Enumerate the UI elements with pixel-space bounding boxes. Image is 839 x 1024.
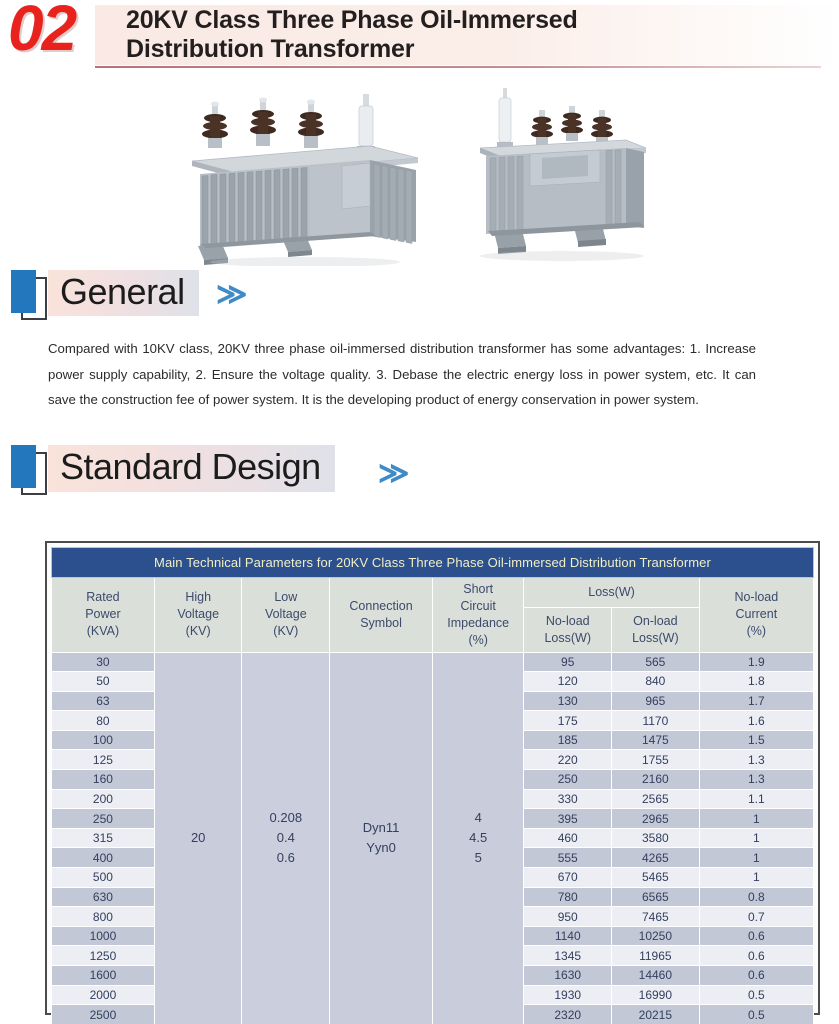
page-header: 02 20KV Class Three Phase Oil-Immersed D… [0, 0, 839, 84]
cell-rated-power: 100 [52, 730, 155, 750]
cell-rated-power: 2500 [52, 1005, 155, 1024]
section-marker-icon [8, 270, 44, 320]
cell-onload-loss: 1170 [612, 711, 700, 731]
cell-rated-power: 200 [52, 789, 155, 809]
standard-design-heading-label: Standard Design [48, 445, 335, 491]
section-heading-general: General ≫ [0, 266, 839, 328]
low-voltage-line1: Low [244, 589, 327, 606]
cell-noload-current: 1.5 [699, 730, 813, 750]
rated-power-line2: Power [54, 606, 152, 623]
cell-rated-power: 30 [52, 652, 155, 672]
cell-onload-loss: 840 [612, 672, 700, 692]
cell-noload-loss: 120 [524, 672, 612, 692]
onload-loss-line1: On-load [612, 613, 699, 630]
cell-rated-power: 2000 [52, 985, 155, 1005]
cell-onload-loss: 6565 [612, 887, 700, 907]
table-row: 30200.2080.40.6Dyn11Yyn044.55955651.9 [52, 652, 814, 672]
cell-noload-current: 1.7 [699, 691, 813, 711]
high-voltage-line3: (KV) [157, 623, 240, 640]
cell-noload-current: 1.3 [699, 770, 813, 790]
merged-low-voltage-value-2: 0.4 [242, 828, 329, 848]
table-title-row: Main Technical Parameters for 20KV Class… [52, 548, 814, 578]
col-header-onload-loss: On-load Loss(W) [612, 608, 700, 652]
cell-onload-loss: 4265 [612, 848, 700, 868]
col-header-rated-power: Rated Power (KVA) [52, 578, 155, 653]
cell-rated-power: 125 [52, 750, 155, 770]
cell-noload-current: 1.8 [699, 672, 813, 692]
merged-impedance-value-1: 4 [433, 808, 523, 828]
low-voltage-line3: (KV) [244, 623, 327, 640]
short-circuit-line1: Short [435, 581, 521, 598]
cell-noload-loss: 1345 [524, 946, 612, 966]
cell-onload-loss: 7465 [612, 907, 700, 927]
cell-noload-loss: 1930 [524, 985, 612, 1005]
cell-noload-loss: 185 [524, 730, 612, 750]
cell-noload-current: 1 [699, 828, 813, 848]
cell-noload-current: 1.1 [699, 789, 813, 809]
cell-noload-loss: 670 [524, 868, 612, 888]
cell-noload-current: 0.7 [699, 907, 813, 927]
cell-onload-loss: 965 [612, 691, 700, 711]
cell-onload-loss: 565 [612, 652, 700, 672]
cell-onload-loss: 1755 [612, 750, 700, 770]
page-title: 20KV Class Three Phase Oil-Immersed Dist… [126, 6, 786, 64]
col-header-high-voltage: High Voltage (KV) [154, 578, 242, 653]
short-circuit-line3: Impedance [435, 615, 521, 632]
table-body: 30200.2080.40.6Dyn11Yyn044.55955651.9501… [52, 652, 814, 1024]
cell-rated-power: 500 [52, 868, 155, 888]
cell-rated-power: 80 [52, 711, 155, 731]
cell-noload-loss: 250 [524, 770, 612, 790]
table-title: Main Technical Parameters for 20KV Class… [52, 548, 814, 578]
cell-noload-current: 0.6 [699, 926, 813, 946]
cell-noload-loss: 780 [524, 887, 612, 907]
page-title-line2: Distribution Transformer [126, 35, 786, 64]
noload-current-line1: No-load [702, 589, 811, 606]
high-voltage-line1: High [157, 589, 240, 606]
cell-rated-power: 800 [52, 907, 155, 927]
cell-rated-power: 1600 [52, 966, 155, 986]
table-header-row-1: Rated Power (KVA) High Voltage (KV) Low … [52, 578, 814, 608]
general-paragraph-text: Compared with 10KV class, 20KV three pha… [48, 336, 756, 413]
cell-onload-loss: 16990 [612, 985, 700, 1005]
cell-rated-power: 63 [52, 691, 155, 711]
noload-loss-line2: Loss(W) [524, 630, 611, 647]
cell-onload-loss: 2160 [612, 770, 700, 790]
col-header-noload-loss: No-load Loss(W) [524, 608, 612, 652]
cell-noload-loss: 1630 [524, 966, 612, 986]
product-images [0, 86, 839, 266]
cell-onload-loss: 14460 [612, 966, 700, 986]
cell-noload-current: 1.6 [699, 711, 813, 731]
cell-rated-power: 50 [52, 672, 155, 692]
onload-loss-line2: Loss(W) [612, 630, 699, 647]
noload-current-line3: (%) [702, 623, 811, 640]
merged-impedance-value-3: 5 [433, 848, 523, 868]
technical-parameters-table-container: Main Technical Parameters for 20KV Class… [45, 541, 820, 1015]
transformer-photo-front [450, 86, 700, 266]
cell-noload-current: 0.5 [699, 1005, 813, 1024]
cell-noload-current: 1 [699, 868, 813, 888]
merged-high-voltage-value: 20 [155, 828, 242, 848]
col-header-noload-current: No-load Current (%) [699, 578, 813, 653]
double-chevron-right-icon: ≫ [216, 280, 247, 310]
cell-noload-loss: 2320 [524, 1005, 612, 1024]
cell-noload-loss: 395 [524, 809, 612, 829]
cell-onload-loss: 2965 [612, 809, 700, 829]
cell-connection-symbol: Dyn11Yyn0 [330, 652, 433, 1024]
noload-current-line2: Current [702, 606, 811, 623]
cell-noload-current: 0.6 [699, 966, 813, 986]
col-header-connection-symbol: Connection Symbol [330, 578, 433, 653]
cell-noload-loss: 130 [524, 691, 612, 711]
cell-rated-power: 400 [52, 848, 155, 868]
cell-rated-power: 1250 [52, 946, 155, 966]
merged-impedance-value-2: 4.5 [433, 828, 523, 848]
product-datasheet-page: 02 20KV Class Three Phase Oil-Immersed D… [0, 0, 839, 1024]
cell-noload-loss: 950 [524, 907, 612, 927]
noload-loss-line1: No-load [524, 613, 611, 630]
double-chevron-right-icon-2: ≫ [378, 459, 409, 489]
merged-low-voltage-value-3: 0.6 [242, 848, 329, 868]
cell-onload-loss: 1475 [612, 730, 700, 750]
connection-line1: Connection [332, 598, 430, 615]
col-header-short-circuit-impedance: Short Circuit Impedance (%) [432, 578, 523, 653]
col-header-loss-group: Loss(W) [524, 578, 699, 608]
cell-rated-power: 1000 [52, 926, 155, 946]
rated-power-line1: Rated [54, 589, 152, 606]
low-voltage-line2: Voltage [244, 606, 327, 623]
transformer-photo-side [170, 86, 480, 266]
cell-noload-loss: 1140 [524, 926, 612, 946]
general-description: Compared with 10KV class, 20KV three pha… [48, 336, 756, 413]
cell-noload-current: 1 [699, 809, 813, 829]
cell-short-circuit-impedance: 44.55 [432, 652, 523, 1024]
cell-high-voltage: 20 [154, 652, 242, 1024]
rated-power-line3: (KVA) [54, 623, 152, 640]
section-heading-standard-design: Standard Design ≫ [0, 441, 839, 503]
short-circuit-line4: (%) [435, 632, 521, 649]
connection-line2: Symbol [332, 615, 430, 632]
cell-noload-current: 1 [699, 848, 813, 868]
cell-rated-power: 630 [52, 887, 155, 907]
cell-noload-loss: 220 [524, 750, 612, 770]
cell-rated-power: 160 [52, 770, 155, 790]
cell-noload-current: 1.9 [699, 652, 813, 672]
general-heading-label: General [48, 270, 199, 316]
cell-noload-current: 1.3 [699, 750, 813, 770]
merged-connection-value-2: Yyn0 [330, 838, 432, 858]
cell-onload-loss: 5465 [612, 868, 700, 888]
section-marker-icon-2 [8, 445, 44, 495]
cell-noload-loss: 460 [524, 828, 612, 848]
cell-noload-current: 0.8 [699, 887, 813, 907]
cell-noload-loss: 555 [524, 848, 612, 868]
page-title-line1: 20KV Class Three Phase Oil-Immersed [126, 6, 786, 35]
col-header-low-voltage: Low Voltage (KV) [242, 578, 330, 653]
cell-onload-loss: 10250 [612, 926, 700, 946]
cell-onload-loss: 11965 [612, 946, 700, 966]
section-number: 02 [8, 0, 75, 60]
marker-filled-square-icon-2 [11, 445, 36, 488]
merged-connection-value-1: Dyn11 [330, 818, 432, 838]
technical-parameters-table: Main Technical Parameters for 20KV Class… [51, 547, 814, 1024]
short-circuit-line2: Circuit [435, 598, 521, 615]
merged-low-voltage-value-1: 0.208 [242, 808, 329, 828]
cell-noload-current: 0.5 [699, 985, 813, 1005]
cell-rated-power: 315 [52, 828, 155, 848]
cell-noload-current: 0.6 [699, 946, 813, 966]
high-voltage-line2: Voltage [157, 606, 240, 623]
cell-rated-power: 250 [52, 809, 155, 829]
header-underline [95, 66, 821, 68]
cell-noload-loss: 175 [524, 711, 612, 731]
cell-onload-loss: 3580 [612, 828, 700, 848]
cell-noload-loss: 95 [524, 652, 612, 672]
marker-filled-square-icon [11, 270, 36, 313]
cell-onload-loss: 2565 [612, 789, 700, 809]
cell-onload-loss: 20215 [612, 1005, 700, 1024]
cell-noload-loss: 330 [524, 789, 612, 809]
cell-low-voltage: 0.2080.40.6 [242, 652, 330, 1024]
